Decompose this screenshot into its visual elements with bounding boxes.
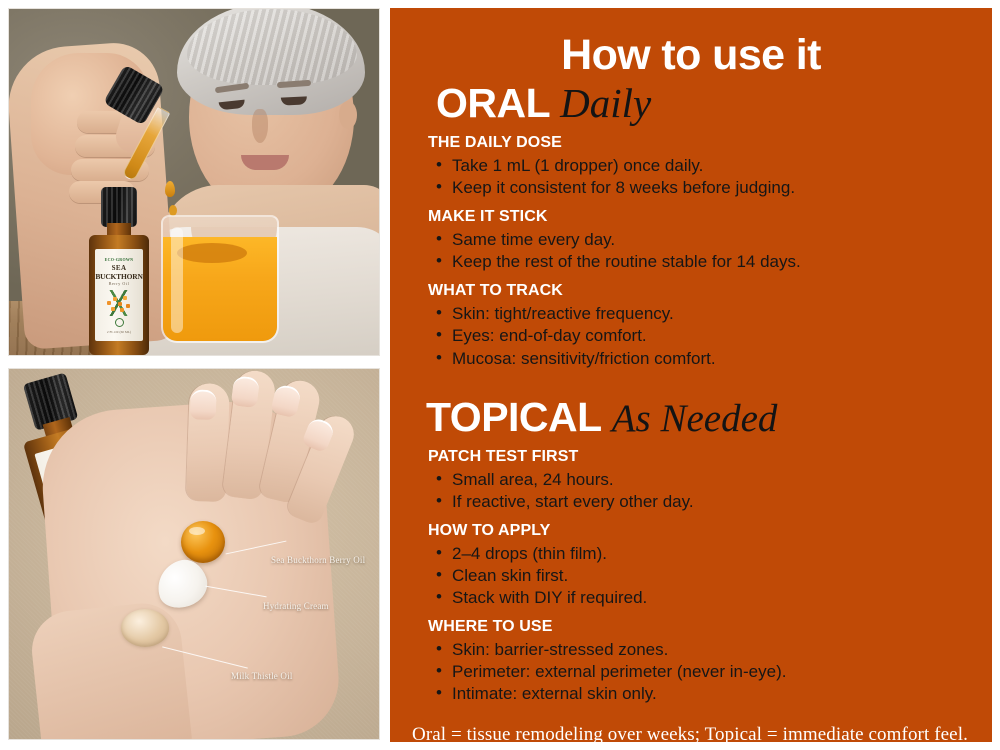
label-name-line2: BUCKTHORN: [95, 272, 143, 281]
list-item: Intimate: external skin only.: [428, 683, 970, 705]
block-heading: MAKE IT STICK: [428, 208, 970, 226]
bullet-list: Skin: barrier-stressed zones. Perimeter:…: [428, 639, 970, 705]
label-volume: 2 FL OZ (60 ML): [95, 330, 143, 334]
list-item: If reactive, start every other day.: [428, 491, 970, 513]
list-item: 2–4 drops (thin film).: [428, 543, 970, 565]
photo-oral-dosing: ECO-GROWN SEA BUCKTHORN Berry Oil 2 FL O…: [8, 8, 380, 356]
block-where-to-use: WHERE TO USE Skin: barrier-stressed zone…: [428, 618, 970, 705]
swatch-label-sea-buckthorn-berry-oil: Sea Buckthorn Berry Oil: [271, 555, 365, 565]
label-name-line1: SEA: [95, 264, 143, 272]
woman-mouth: [241, 155, 289, 170]
oil-droplet: [165, 181, 175, 197]
page-title: How to use it: [412, 34, 970, 77]
section-heading-sub: As Needed: [612, 399, 778, 438]
block-heading: HOW TO APPLY: [428, 522, 970, 540]
sea-buckthorn-berry-icon: [101, 290, 137, 316]
list-item: Stack with DIY if required.: [428, 587, 970, 609]
photo-column: ECO-GROWN SEA BUCKTHORN Berry Oil 2 FL O…: [8, 8, 380, 742]
bottle-label: ECO-GROWN SEA BUCKTHORN Berry Oil 2 FL O…: [95, 249, 143, 341]
block-make-it-stick: MAKE IT STICK Same time every day. Keep …: [428, 208, 970, 273]
swatch-sea-buckthorn-oil: [181, 521, 225, 563]
list-item: Same time every day.: [428, 229, 970, 251]
list-item: Perimeter: external perimeter (never in-…: [428, 661, 970, 683]
label-subtitle: Berry Oil: [95, 281, 143, 286]
woman-nose: [252, 109, 268, 143]
section-heading-sub: Daily: [560, 83, 651, 124]
section-heading-main: ORAL: [436, 83, 550, 124]
product-bottle: ECO-GROWN SEA BUCKTHORN Berry Oil 2 FL O…: [87, 187, 151, 355]
block-what-to-track: WHAT TO TRACK Skin: tight/reactive frequ…: [428, 282, 970, 369]
block-heading: WHERE TO USE: [428, 618, 970, 636]
list-item: Eyes: end-of-day comfort.: [428, 325, 970, 347]
bullet-list: 2–4 drops (thin film). Clean skin first.…: [428, 543, 970, 609]
block-heading: WHAT TO TRACK: [428, 282, 970, 300]
block-how-to-apply: HOW TO APPLY 2–4 drops (thin film). Clea…: [428, 522, 970, 609]
list-item: Skin: barrier-stressed zones.: [428, 639, 970, 661]
block-heading: THE DAILY DOSE: [428, 134, 970, 152]
label-eco-text: ECO-GROWN: [95, 257, 143, 262]
list-item: Take 1 mL (1 dropper) once daily.: [428, 155, 970, 177]
block-heading: PATCH TEST FIRST: [428, 448, 970, 466]
photo-topical-swatches: ECO-GROWN SEA BUCKTHORN Berry Oil: [8, 368, 380, 740]
block-patch-test-first: PATCH TEST FIRST Small area, 24 hours. I…: [428, 448, 970, 513]
organic-seal-icon: [115, 318, 124, 327]
footnote: Oral = tissue remodeling over weeks; Top…: [412, 714, 970, 747]
list-item: Small area, 24 hours.: [428, 469, 970, 491]
instructions-panel: How to use it ORAL Daily THE DAILY DOSE …: [390, 8, 992, 742]
block-the-daily-dose: THE DAILY DOSE Take 1 mL (1 dropper) onc…: [428, 134, 970, 199]
bullet-list: Take 1 mL (1 dropper) once daily. Keep i…: [428, 155, 970, 199]
section-heading-main: TOPICAL: [426, 397, 602, 438]
juice-glass: [161, 215, 279, 343]
fingernail: [231, 375, 260, 408]
section-heading-topical: TOPICAL As Needed: [426, 397, 970, 438]
swatch-label-hydrating-cream: Hydrating Cream: [263, 601, 329, 611]
swatch-label-milk-thistle-oil: Milk Thistle Oil: [231, 671, 293, 681]
bottle-dropper-cap: [101, 187, 137, 227]
bullet-list: Skin: tight/reactive frequency. Eyes: en…: [428, 303, 970, 369]
woman-ear: [339, 101, 357, 129]
section-heading-oral: ORAL Daily: [436, 83, 970, 124]
glass-highlight: [171, 227, 183, 333]
list-item: Keep the rest of the routine stable for …: [428, 251, 970, 273]
bullet-list: Small area, 24 hours. If reactive, start…: [428, 469, 970, 513]
swatch-milk-thistle-oil: [121, 609, 169, 647]
list-item: Keep it consistent for 8 weeks before ju…: [428, 177, 970, 199]
list-item: Mucosa: sensitivity/friction comfort.: [428, 348, 970, 370]
fingernail: [190, 389, 217, 420]
woman-hair: [177, 8, 365, 115]
list-item: Skin: tight/reactive frequency.: [428, 303, 970, 325]
bullet-list: Same time every day. Keep the rest of th…: [428, 229, 970, 273]
list-item: Clean skin first.: [428, 565, 970, 587]
infographic-page: ECO-GROWN SEA BUCKTHORN Berry Oil 2 FL O…: [0, 0, 1000, 750]
